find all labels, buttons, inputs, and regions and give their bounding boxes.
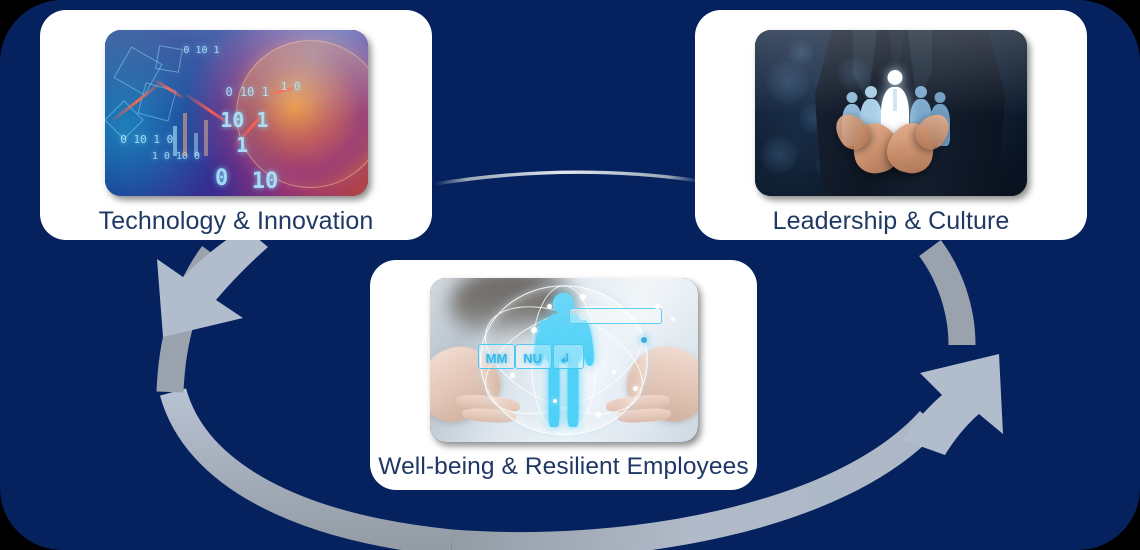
node-card-technology[interactable]: 0 10 1 0 10 1 0 1 0 10 0 0 10 1 10 1 1 0… <box>40 10 432 240</box>
arrow-wellbeing-to-leadership <box>903 354 1003 455</box>
node-label-leadership: Leadership & Culture <box>773 206 1010 236</box>
node-label-wellbeing: Well-being & Resilient Employees <box>378 452 748 482</box>
arc-right-upper <box>930 248 962 345</box>
node-card-leadership[interactable]: Leadership & Culture <box>695 10 1087 240</box>
leadership-culture-thumbnail <box>755 30 1027 196</box>
node-card-wellbeing[interactable]: MM NU ↲ Well-being & Resilient Employees <box>370 260 757 490</box>
node-label-technology: Technology & Innovation <box>99 206 374 236</box>
technology-innovation-thumbnail: 0 10 1 0 10 1 0 1 0 10 0 0 10 1 10 1 1 0… <box>105 30 368 196</box>
arrow-technology-to-wellbeing <box>157 228 268 337</box>
diagram-canvas: 0 10 1 0 10 1 0 1 0 10 0 0 10 1 10 1 1 0… <box>0 0 1140 550</box>
wellbeing-resilient-employees-thumbnail: MM NU ↲ <box>430 278 698 442</box>
arc-leadership-to-technology <box>435 172 700 184</box>
